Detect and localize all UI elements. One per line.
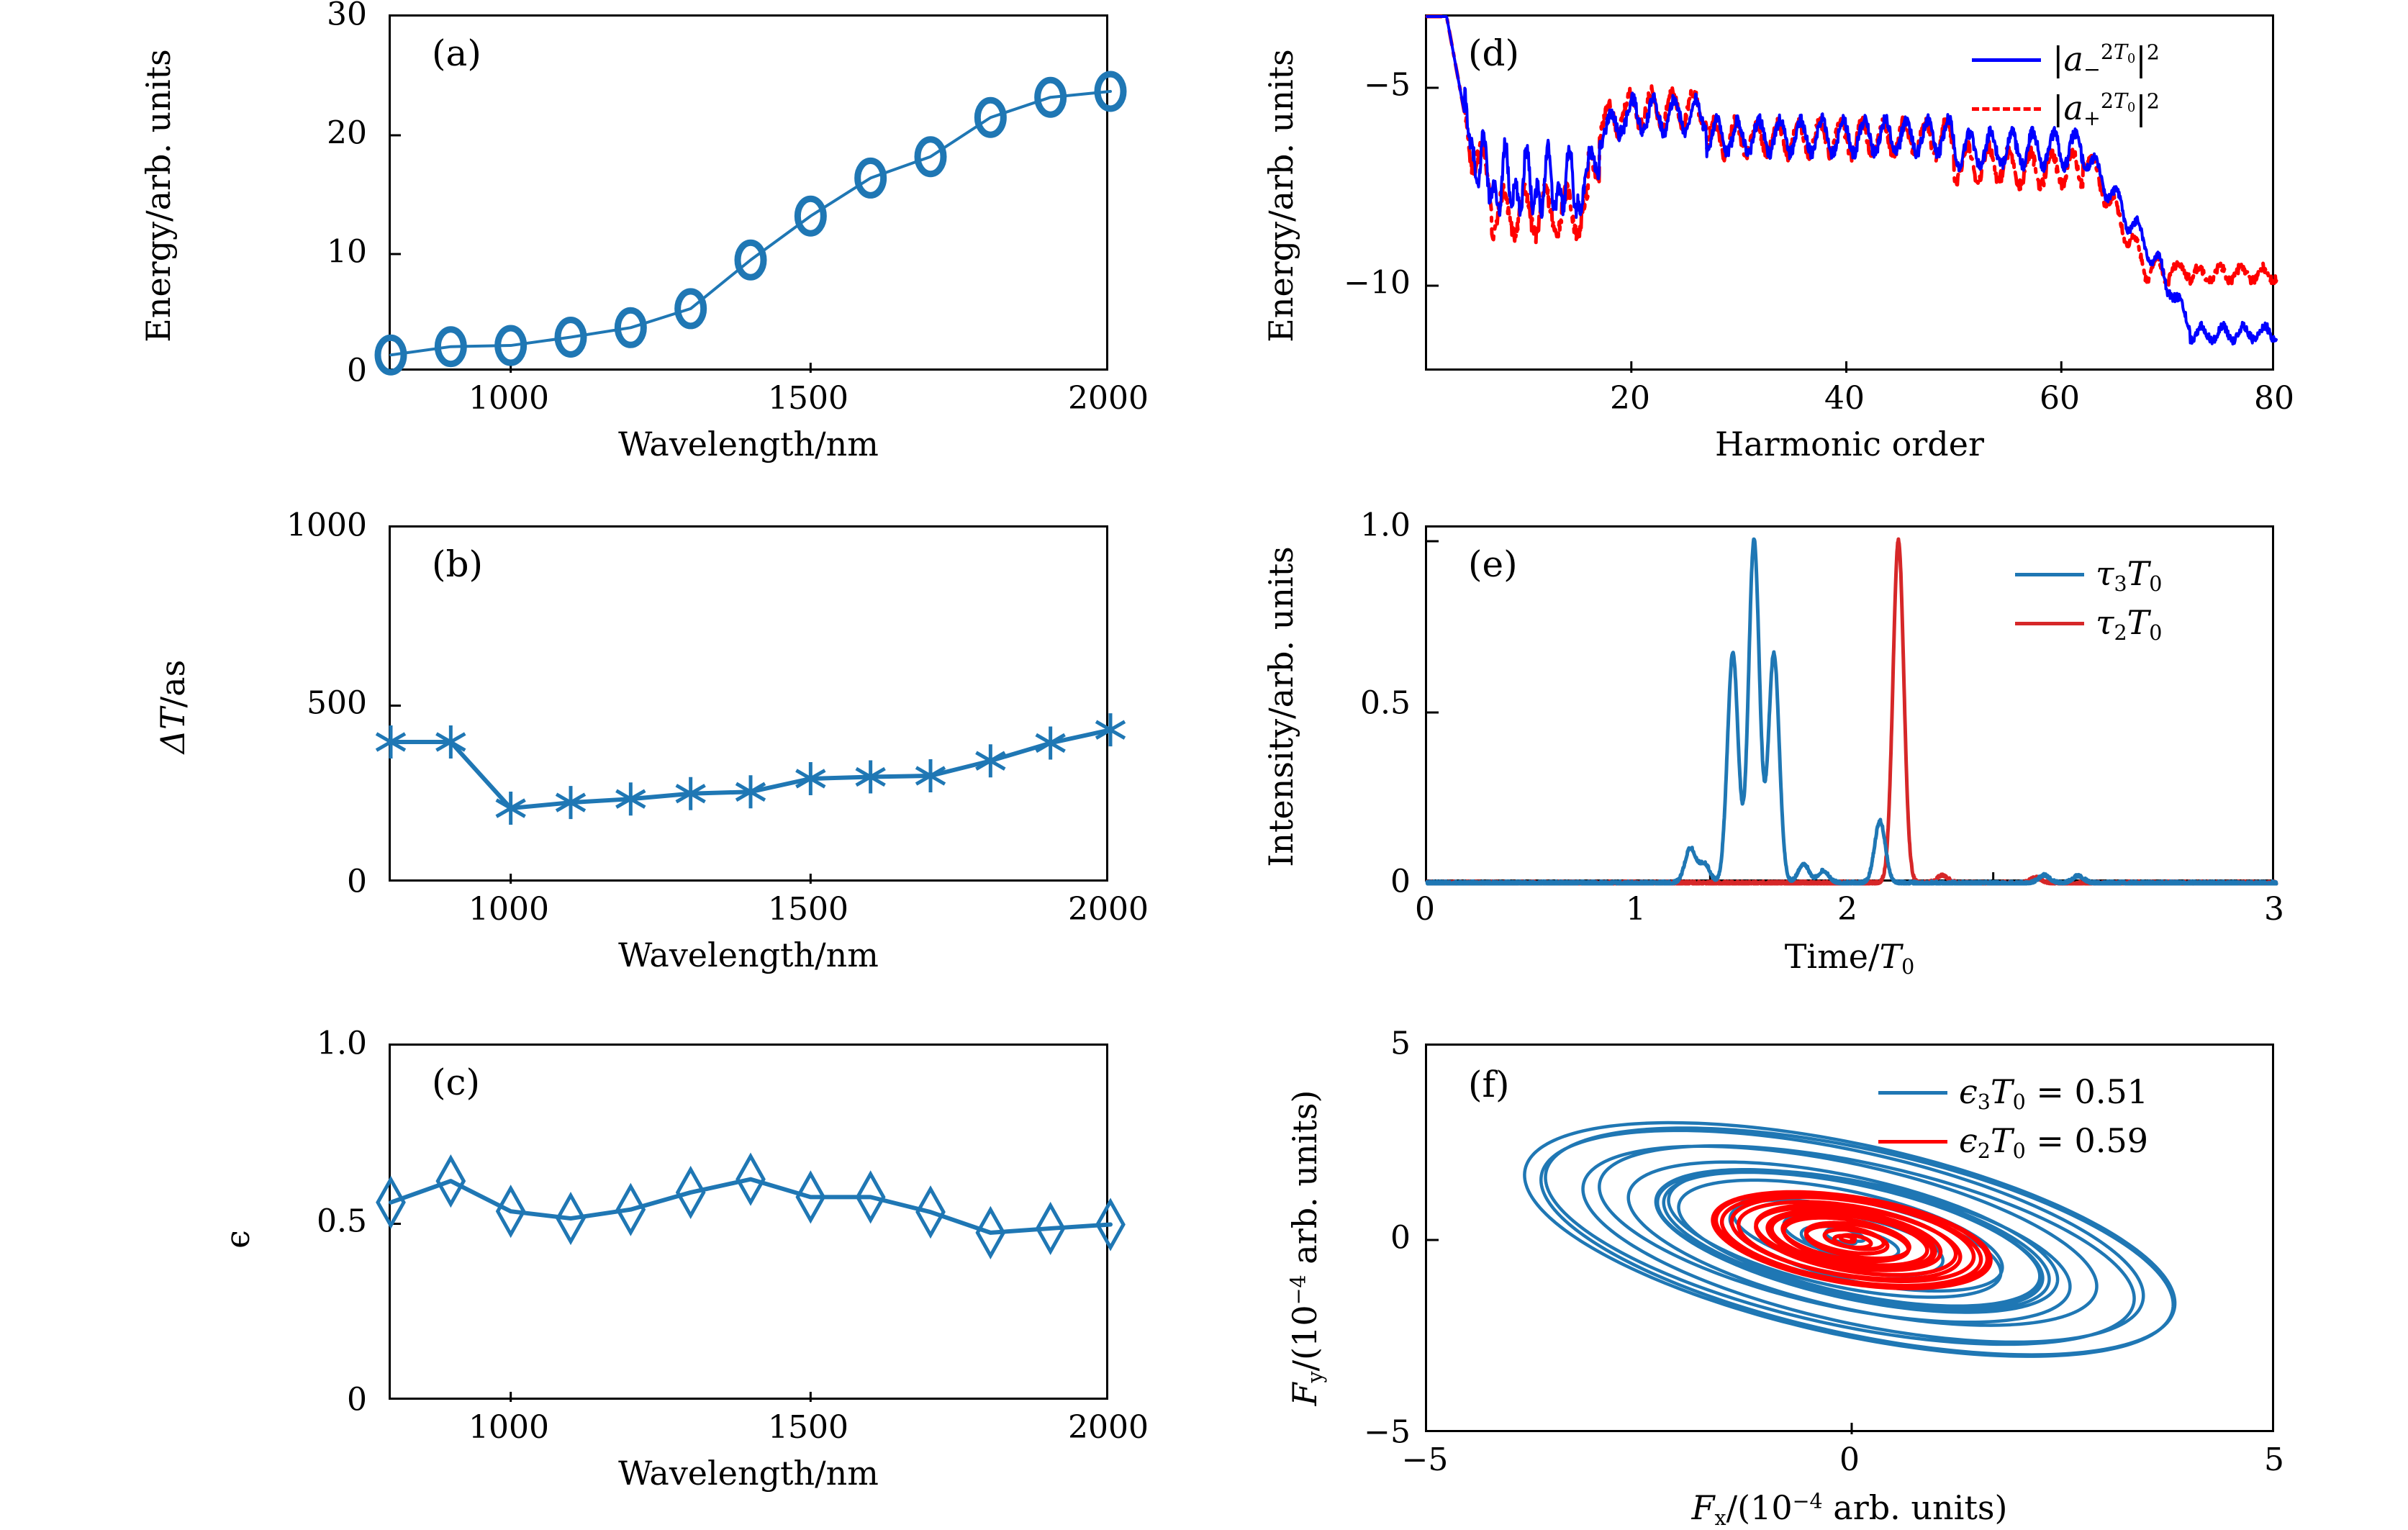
- panel-b-ylabel: ΔT/as: [153, 613, 192, 800]
- legend-item-tau3[interactable]: τ3T0: [2015, 554, 2162, 596]
- panel-c-axes: [389, 1044, 1108, 1400]
- legend-label-tau2: τ2T0: [2096, 603, 2162, 645]
- panel-c-xlabel: Wavelength/nm: [389, 1454, 1108, 1493]
- panel-f-ytick-0: 0: [1317, 1220, 1411, 1257]
- panel-a-plot: [391, 17, 1110, 373]
- panel-a-ytick-0: 0: [288, 353, 367, 389]
- panel-a-ytick-20: 20: [288, 115, 367, 152]
- panel-f: (f) Fy/(10−4 arb. units) Fx/(10−4 arb. u…: [1209, 1022, 2408, 1530]
- panel-e-ytick-0: 0: [1288, 864, 1411, 900]
- legend-label-tau3: τ3T0: [2096, 554, 2162, 596]
- panel-c-ytick-10: 1.0: [252, 1026, 367, 1062]
- panel-e-ytick-10: 1.0: [1288, 507, 1411, 544]
- panel-b-xlabel: Wavelength/nm: [389, 936, 1108, 974]
- legend-swatch-dashdot-red: [1972, 107, 2041, 111]
- panel-c-xtick-2000: 2000: [1068, 1409, 1149, 1446]
- panel-a: (a) Energy/arb. units Wavelength/nm 30 2…: [0, 0, 1209, 475]
- per-as-unit: /as: [153, 660, 192, 708]
- data-point: [976, 744, 1005, 777]
- panel-f-xtick-m5: −5: [1402, 1441, 1449, 1478]
- panel-d-label: (d): [1468, 32, 1519, 74]
- panel-d-xtick-20: 20: [1610, 380, 1650, 417]
- panel-c-ytick-05: 0.5: [252, 1203, 367, 1240]
- legend-swatch-blue: [2015, 573, 2084, 576]
- panel-e-label: (e): [1468, 543, 1518, 585]
- panel-e-xtick-3: 3: [2264, 891, 2284, 928]
- panel-a-xtick-1000: 1000: [469, 380, 549, 417]
- panel-e-legend: τ3T0 τ2T0: [2015, 554, 2162, 652]
- panel-d-ylabel: Energy/arb. units: [1262, 0, 1300, 397]
- panel-d-xtick-60: 60: [2040, 380, 2080, 417]
- panel-a-axes: [389, 14, 1108, 371]
- panel-e: (e) Intensity/arb. units Time/T0 1.0 0.5…: [1209, 511, 2408, 986]
- panel-a-ytick-10: 10: [288, 234, 367, 271]
- legend-label-eps3: ϵ3T0 = 0.51: [1959, 1072, 2148, 1114]
- panel-b-plot: [391, 528, 1110, 884]
- panel-e-ytick-05: 0.5: [1288, 685, 1411, 722]
- panel-a-ylabel: Energy/arb. units: [139, 0, 178, 397]
- panel-b-xtick-1500: 1500: [768, 891, 848, 928]
- panel-a-label: (a): [432, 32, 481, 74]
- panel-c-plot: [391, 1046, 1110, 1402]
- panel-d-legend: |a−2T0|2 |a+2T0|2: [1972, 40, 2160, 137]
- legend-item-eps2[interactable]: ϵ2T0 = 0.59: [1878, 1121, 2148, 1163]
- panel-d-ytick-10: −10: [1303, 265, 1411, 302]
- panel-f-xtick-0: 0: [1839, 1441, 1860, 1478]
- panel-e-xtick-0: 0: [1415, 891, 1435, 928]
- panel-c-label: (c): [432, 1062, 480, 1103]
- legend-swatch-blue: [1878, 1091, 1947, 1095]
- panel-e-xtick-1: 1: [1626, 891, 1646, 928]
- panel-a-xtick-1500: 1500: [768, 380, 848, 417]
- panel-f-ytick-5: 5: [1317, 1026, 1411, 1062]
- panel-f-ytick-m5: −5: [1317, 1414, 1411, 1451]
- panel-a-ytick-30: 30: [288, 0, 367, 33]
- panel-f-xtick-5: 5: [2264, 1441, 2284, 1478]
- panel-d-xtick-80: 80: [2254, 380, 2294, 417]
- panel-e-xlabel: Time/T0: [1425, 937, 2274, 979]
- panel-f-plot: [1427, 1046, 2276, 1434]
- legend-swatch-red: [1878, 1140, 1947, 1144]
- panel-c-ylabel: ϵ: [218, 1210, 257, 1268]
- panel-c: (c) ϵ Wavelength/nm 1.0 0.5 0 1000 1500 …: [0, 1022, 1209, 1526]
- panel-b-label: (b): [432, 543, 483, 585]
- legend-label-a-plus: |a+2T0|2: [2052, 89, 2160, 130]
- panel-d-xtick-40: 40: [1824, 380, 1865, 417]
- panel-d-xlabel: Harmonic order: [1425, 425, 2274, 463]
- panel-b-ytick-0: 0: [223, 864, 367, 900]
- legend-swatch-solid-blue: [1972, 58, 2041, 62]
- legend-item-tau2[interactable]: τ2T0: [2015, 603, 2162, 645]
- legend-item-eps3[interactable]: ϵ3T0 = 0.51: [1878, 1072, 2148, 1114]
- panel-d-ytick-5: −5: [1303, 67, 1411, 104]
- panel-b: (b) ΔT/as Wavelength/nm 1000 500 0 1000 …: [0, 511, 1209, 986]
- legend-item-a-minus[interactable]: |a−2T0|2: [1972, 40, 2160, 81]
- figure-canvas: (a) Energy/arb. units Wavelength/nm 30 2…: [0, 0, 2408, 1530]
- panel-d: (d) Energy/arb. units Harmonic order −5 …: [1209, 0, 2408, 475]
- legend-label-a-minus: |a−2T0|2: [2052, 40, 2160, 81]
- panel-c-ytick-0: 0: [252, 1382, 367, 1418]
- panel-b-xtick-1000: 1000: [469, 891, 549, 928]
- panel-b-axes: [389, 525, 1108, 882]
- panel-e-xtick-2: 2: [1837, 891, 1857, 928]
- panel-f-legend: ϵ3T0 = 0.51 ϵ2T0 = 0.59: [1878, 1072, 2148, 1170]
- panel-c-xtick-1500: 1500: [768, 1409, 848, 1446]
- panel-f-xlabel: Fx/(10−4 arb. units): [1425, 1488, 2274, 1530]
- legend-swatch-red: [2015, 622, 2084, 625]
- panel-b-xtick-2000: 2000: [1068, 891, 1149, 928]
- delta-T-symbol: ΔT: [153, 707, 192, 753]
- panel-f-label: (f): [1468, 1064, 1510, 1105]
- panel-a-xlabel: Wavelength/nm: [389, 425, 1108, 463]
- legend-label-eps2: ϵ2T0 = 0.59: [1959, 1121, 2148, 1163]
- legend-item-a-plus[interactable]: |a+2T0|2: [1972, 89, 2160, 130]
- panel-a-xtick-2000: 2000: [1068, 380, 1149, 417]
- panel-c-xtick-1000: 1000: [469, 1409, 549, 1446]
- panel-b-ytick-500: 500: [223, 685, 367, 722]
- panel-b-ytick-1000: 1000: [223, 507, 367, 544]
